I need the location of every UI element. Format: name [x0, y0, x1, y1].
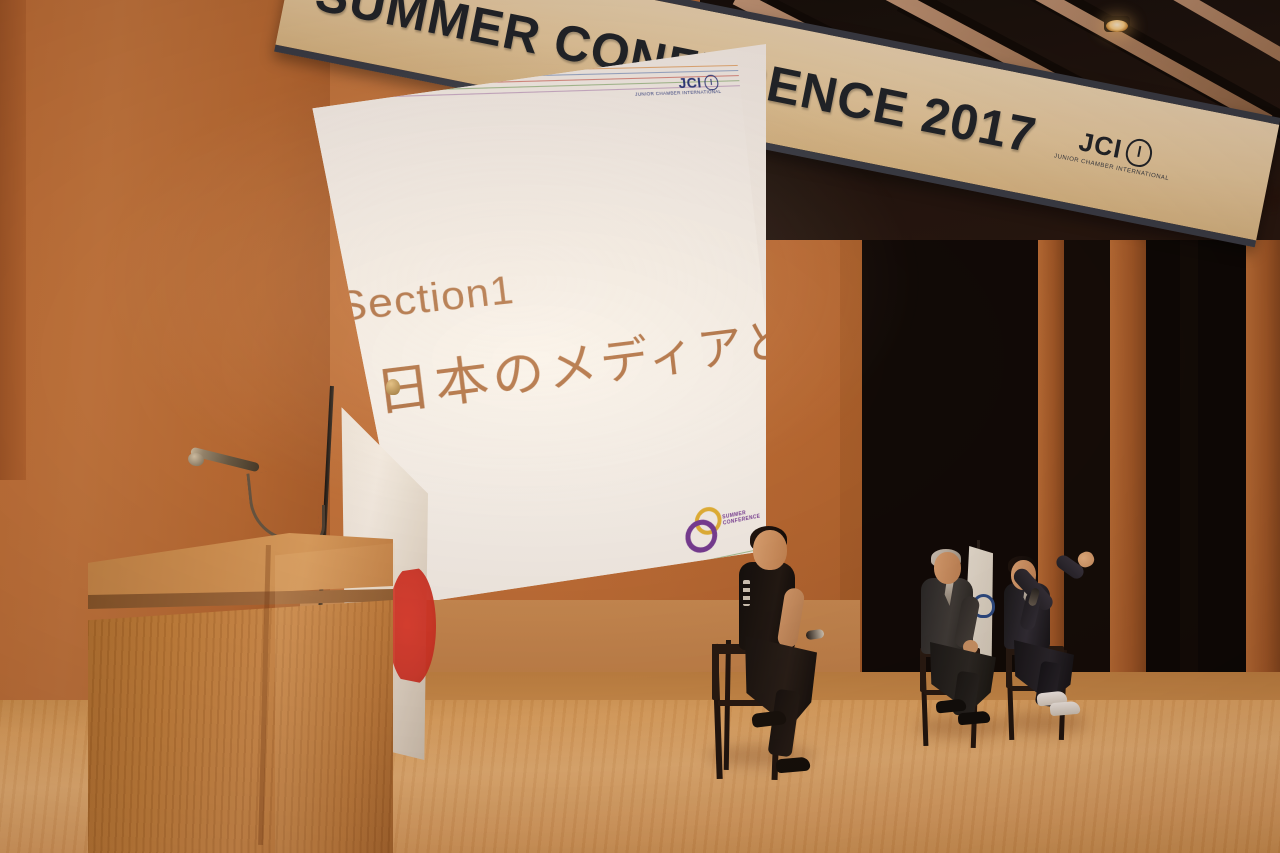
stage-photo: SUMMER CONFERENCE 2017 JCI JUNIOR CHAMBE…	[0, 0, 1280, 853]
japan-flag-disc	[388, 566, 436, 686]
speaker-1-shoe-right	[775, 757, 810, 774]
jci-emblem-icon	[704, 74, 719, 90]
summer-conference-mark-icon	[681, 504, 721, 547]
podium-side-face	[275, 543, 395, 853]
slide-section-label: Section1	[333, 267, 516, 332]
banner-jci-abbr: JCI	[1077, 128, 1125, 162]
ceiling-spotlight-4	[1106, 20, 1128, 32]
summer-conference-wordmark: SUMMER CONFERENCE	[722, 509, 761, 528]
speaker-1-head	[753, 530, 787, 570]
banner-jci-logo: JCI JUNIOR CHAMBER INTERNATIONAL	[1053, 122, 1175, 181]
flag-finial-icon	[386, 379, 400, 395]
left-wall-edge	[0, 0, 26, 480]
slide-stripes-top	[219, 65, 741, 108]
jci-emblem-icon	[1123, 136, 1154, 169]
stool-shadow-3	[1002, 712, 1088, 734]
speaker-3-sneaker-right	[1049, 701, 1080, 717]
speaker-1-sleeve-print	[743, 580, 750, 606]
speaker-2-head	[934, 552, 961, 584]
